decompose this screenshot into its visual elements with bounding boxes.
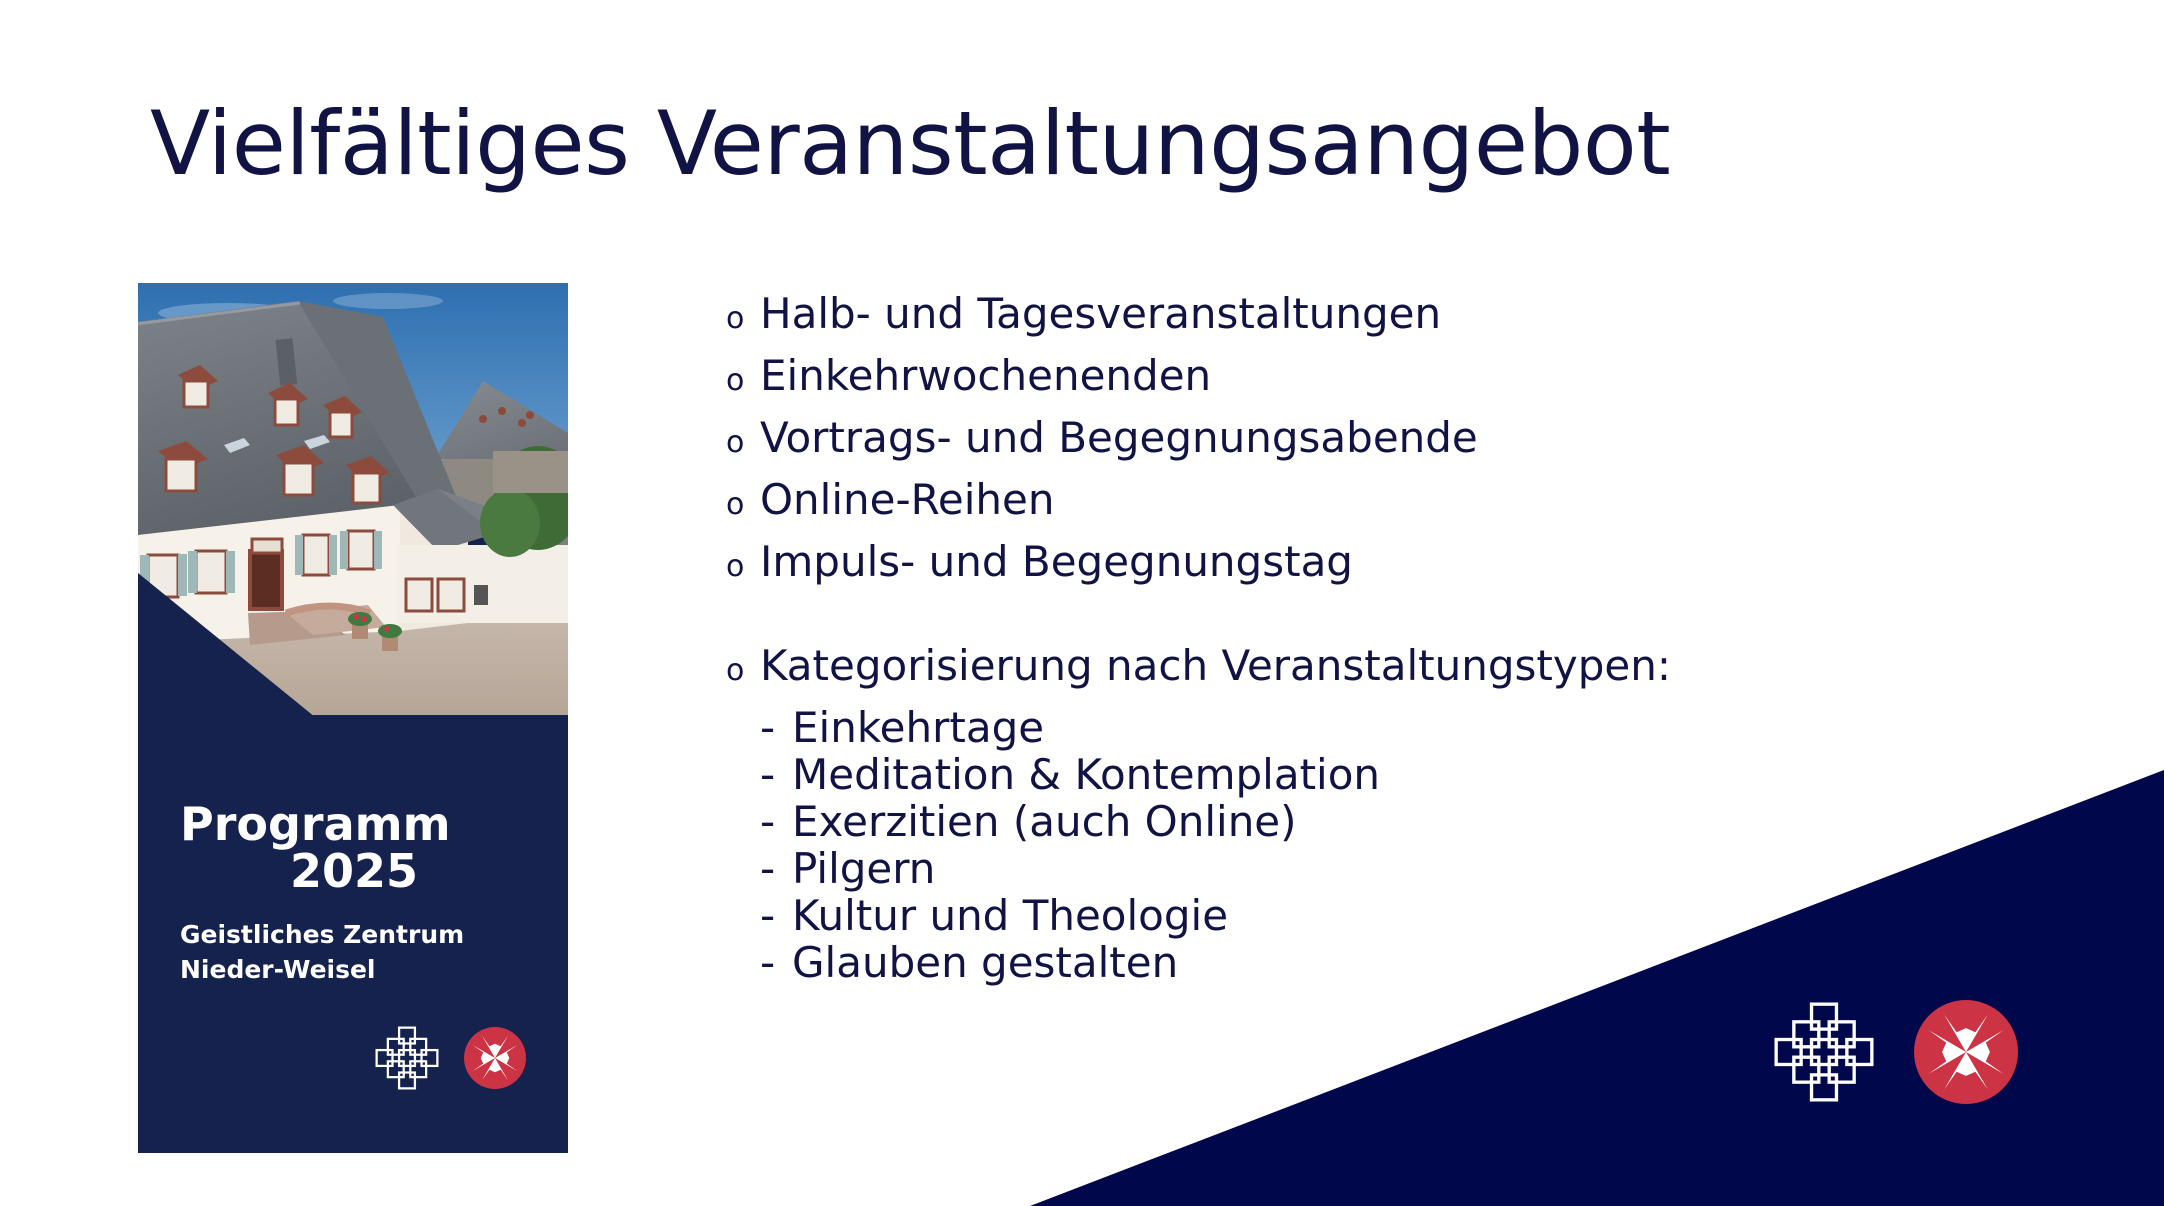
list-item-label: Einkehrwochenenden	[760, 354, 1211, 398]
maltese-cross-icon	[464, 1027, 526, 1093]
list-item-category: o Kategorisierung nach Veranstaltungstyp…	[726, 644, 2046, 688]
bullet-circle-icon: o	[726, 428, 760, 458]
dash-marker-icon: -	[760, 848, 792, 890]
slide-canvas: Vielfältiges Veranstaltungsangebot	[0, 0, 2164, 1206]
brochure-programm-label: Programm	[180, 801, 530, 847]
brochure-year-label: 2025	[290, 847, 530, 897]
brochure-logo-group	[374, 1025, 526, 1095]
event-offer-list: o Halb- und Tagesveranstaltungen o Einke…	[726, 292, 2046, 989]
list-item-label: Vortrags- und Begegnungsabende	[760, 416, 1478, 460]
sub-list-item-label: Meditation & Kontemplation	[792, 754, 1380, 796]
list-group-spacer	[726, 602, 2046, 644]
sub-list-item: - Glauben gestalten	[760, 942, 2046, 984]
sub-list-item: - Exerzitien (auch Online)	[760, 801, 2046, 843]
bullet-circle-icon: o	[726, 490, 760, 520]
list-item-label: Impuls- und Begegnungstag	[760, 540, 1353, 584]
list-item: o Halb- und Tagesveranstaltungen	[726, 292, 2046, 336]
dash-marker-icon: -	[760, 801, 792, 843]
sub-list-item-label: Exerzitien (auch Online)	[792, 801, 1297, 843]
sub-list-item-label: Glauben gestalten	[792, 942, 1178, 984]
page-title: Vielfältiges Veranstaltungsangebot	[150, 96, 2050, 191]
bullet-circle-icon: o	[726, 304, 760, 334]
list-item-label: Kategorisierung nach Veranstaltungstypen…	[760, 644, 1671, 688]
bullet-circle-icon: o	[726, 366, 760, 396]
sub-list-item: - Einkehrtage	[760, 707, 2046, 749]
bullet-circle-icon: o	[726, 656, 760, 686]
brochure-cover-card: Programm 2025 Geistliches Zentrum Nieder…	[138, 283, 568, 1153]
sub-list-item-label: Kultur und Theologie	[792, 895, 1228, 937]
johanniter-cross-icon	[374, 1025, 440, 1095]
brochure-text-block: Programm 2025 Geistliches Zentrum Nieder…	[180, 801, 530, 988]
sub-list-item: - Kultur und Theologie	[760, 895, 2046, 937]
list-item-label: Online-Reihen	[760, 478, 1055, 522]
list-item: o Impuls- und Begegnungstag	[726, 540, 2046, 584]
dash-marker-icon: -	[760, 707, 792, 749]
list-item: o Online-Reihen	[726, 478, 2046, 522]
corner-logo-group	[1772, 1000, 2018, 1108]
brochure-org-line-2: Nieder-Weisel	[180, 952, 530, 988]
list-item: o Vortrags- und Begegnungsabende	[726, 416, 2046, 460]
dash-marker-icon: -	[760, 754, 792, 796]
bullet-circle-icon: o	[726, 552, 760, 582]
johanniter-cross-icon	[1772, 1000, 1876, 1108]
sub-list-item: - Pilgern	[760, 848, 2046, 890]
maltese-cross-icon	[1914, 1000, 2018, 1108]
brochure-org-line-1: Geistliches Zentrum	[180, 917, 530, 953]
sub-list-item-label: Pilgern	[792, 848, 935, 890]
dash-marker-icon: -	[760, 895, 792, 937]
list-item-label: Halb- und Tagesveranstaltungen	[760, 292, 1441, 336]
sub-list-item-label: Einkehrtage	[792, 707, 1044, 749]
brochure-organisation: Geistliches Zentrum Nieder-Weisel	[180, 917, 530, 988]
sub-list-item: - Meditation & Kontemplation	[760, 754, 2046, 796]
dash-marker-icon: -	[760, 942, 792, 984]
list-item: o Einkehrwochenenden	[726, 354, 2046, 398]
